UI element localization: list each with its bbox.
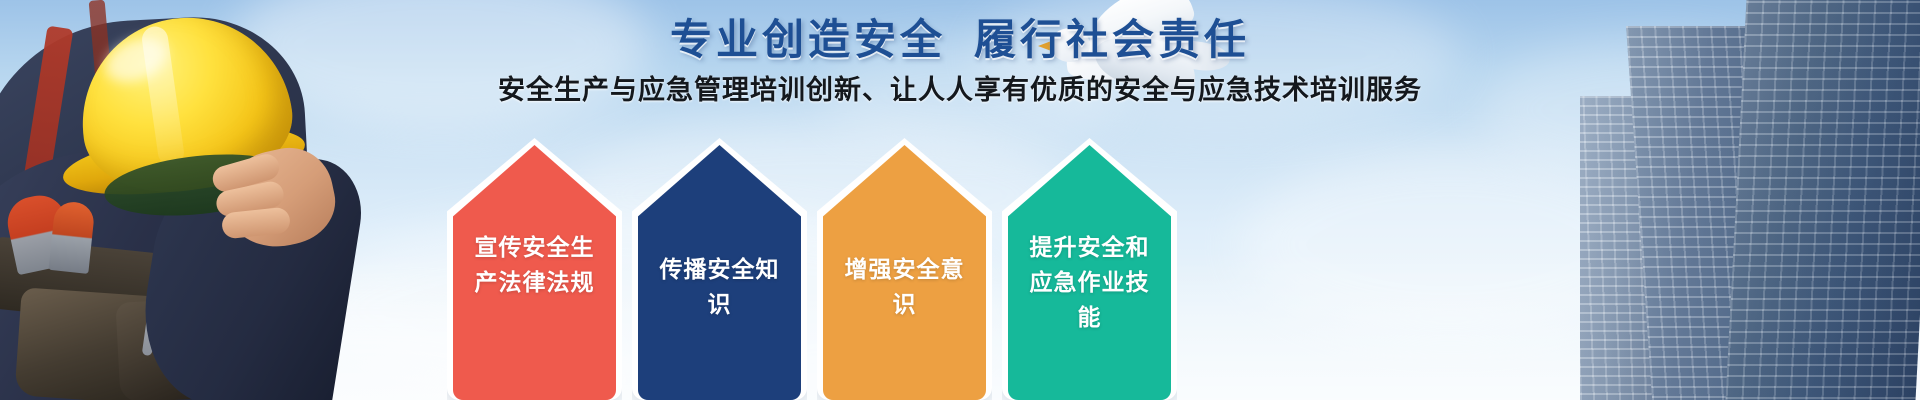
badge-fill: 提升安全和应急作业技能 [1008, 145, 1171, 400]
badge-fill: 宣传安全生产法律法规 [453, 145, 616, 400]
headline-part-1: 专业创造安全 [670, 15, 946, 64]
badge-improve-emergency-skills[interactable]: 提升安全和应急作业技能 [1002, 138, 1177, 400]
banner-subtitle: 安全生产与应急管理培训创新、让人人享有优质的安全与应急技术培训服务 [0, 68, 1920, 107]
badge-label: 宣传安全生产法律法规 [465, 231, 605, 301]
badge-label: 传播安全知识 [650, 253, 790, 323]
badge-row: 宣传安全生产法律法规 传播安全知识 增强安全意识 提升安全和应急作业技能 [447, 138, 1187, 400]
badge-fill: 传播安全知识 [638, 145, 801, 400]
badge-raise-safety-awareness[interactable]: 增强安全意识 [817, 138, 992, 400]
headline-part-2: 履行社会责任 [974, 15, 1250, 64]
badge-label: 提升安全和应急作业技能 [1020, 231, 1160, 336]
badge-promote-safety-law[interactable]: 宣传安全生产法律法规 [447, 138, 622, 400]
safety-training-banner: 专业创造安全履行社会责任 安全生产与应急管理培训创新、让人人享有优质的安全与应急… [0, 0, 1920, 400]
badge-spread-safety-knowledge[interactable]: 传播安全知识 [632, 138, 807, 400]
banner-headline: 专业创造安全履行社会责任 [0, 6, 1920, 67]
badge-label: 增强安全意识 [835, 253, 975, 323]
badge-fill: 增强安全意识 [823, 145, 986, 400]
pliers-tool-secondary [48, 200, 95, 274]
